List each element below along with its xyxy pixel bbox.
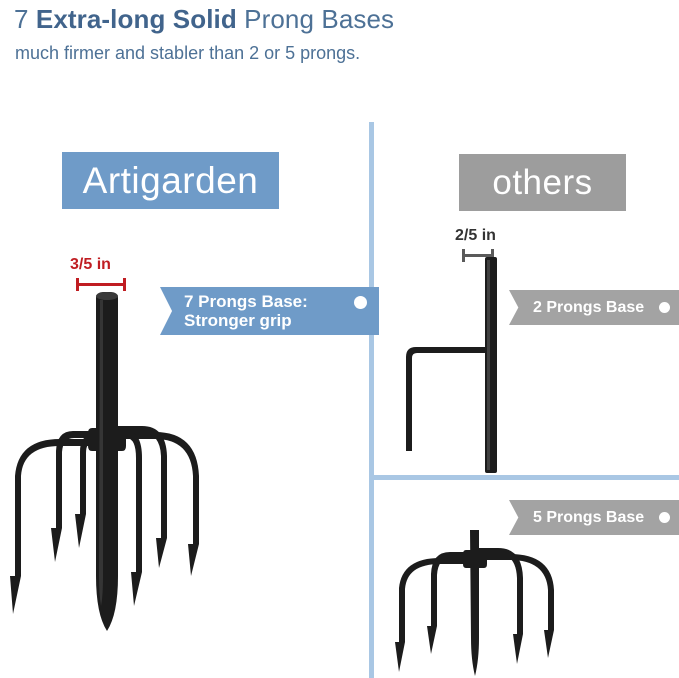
title-lead: 7 [14,4,36,34]
title-emphasis: Extra-long Solid [36,4,237,34]
vertical-divider [369,122,374,678]
brand-badge-label-others: others [492,163,592,203]
page-title: 7 Extra-long Solid Prong Bases [14,4,394,34]
title-tail: Prong Bases [237,4,394,34]
two-prong-base-illustration [392,255,522,480]
seven-prong-base-illustration [0,276,230,646]
infographic-canvas: 7 Extra-long Solid Prong Bases much firm… [0,0,679,678]
bullet-dot-icon [354,296,367,309]
page-subtitle: much firmer and stabler than 2 or 5 pron… [15,42,360,64]
five-prong-base-illustration [378,530,578,678]
brand-badge-artigarden: Artigarden [62,152,279,209]
dimension-label-left: 3/5 in [70,256,111,274]
dimension-label-right: 2/5 in [455,227,496,245]
bullet-dot-icon-two [659,302,670,313]
bullet-dot-icon-five [659,512,670,523]
callout-five-prong-text: 5 Prongs Base [533,509,644,527]
callout-two-prong-text: 2 Prongs Base [533,299,644,317]
brand-badge-others: others [459,154,626,211]
brand-badge-label: Artigarden [83,160,259,202]
callout-two-prong: 2 Prongs Base [509,290,679,325]
